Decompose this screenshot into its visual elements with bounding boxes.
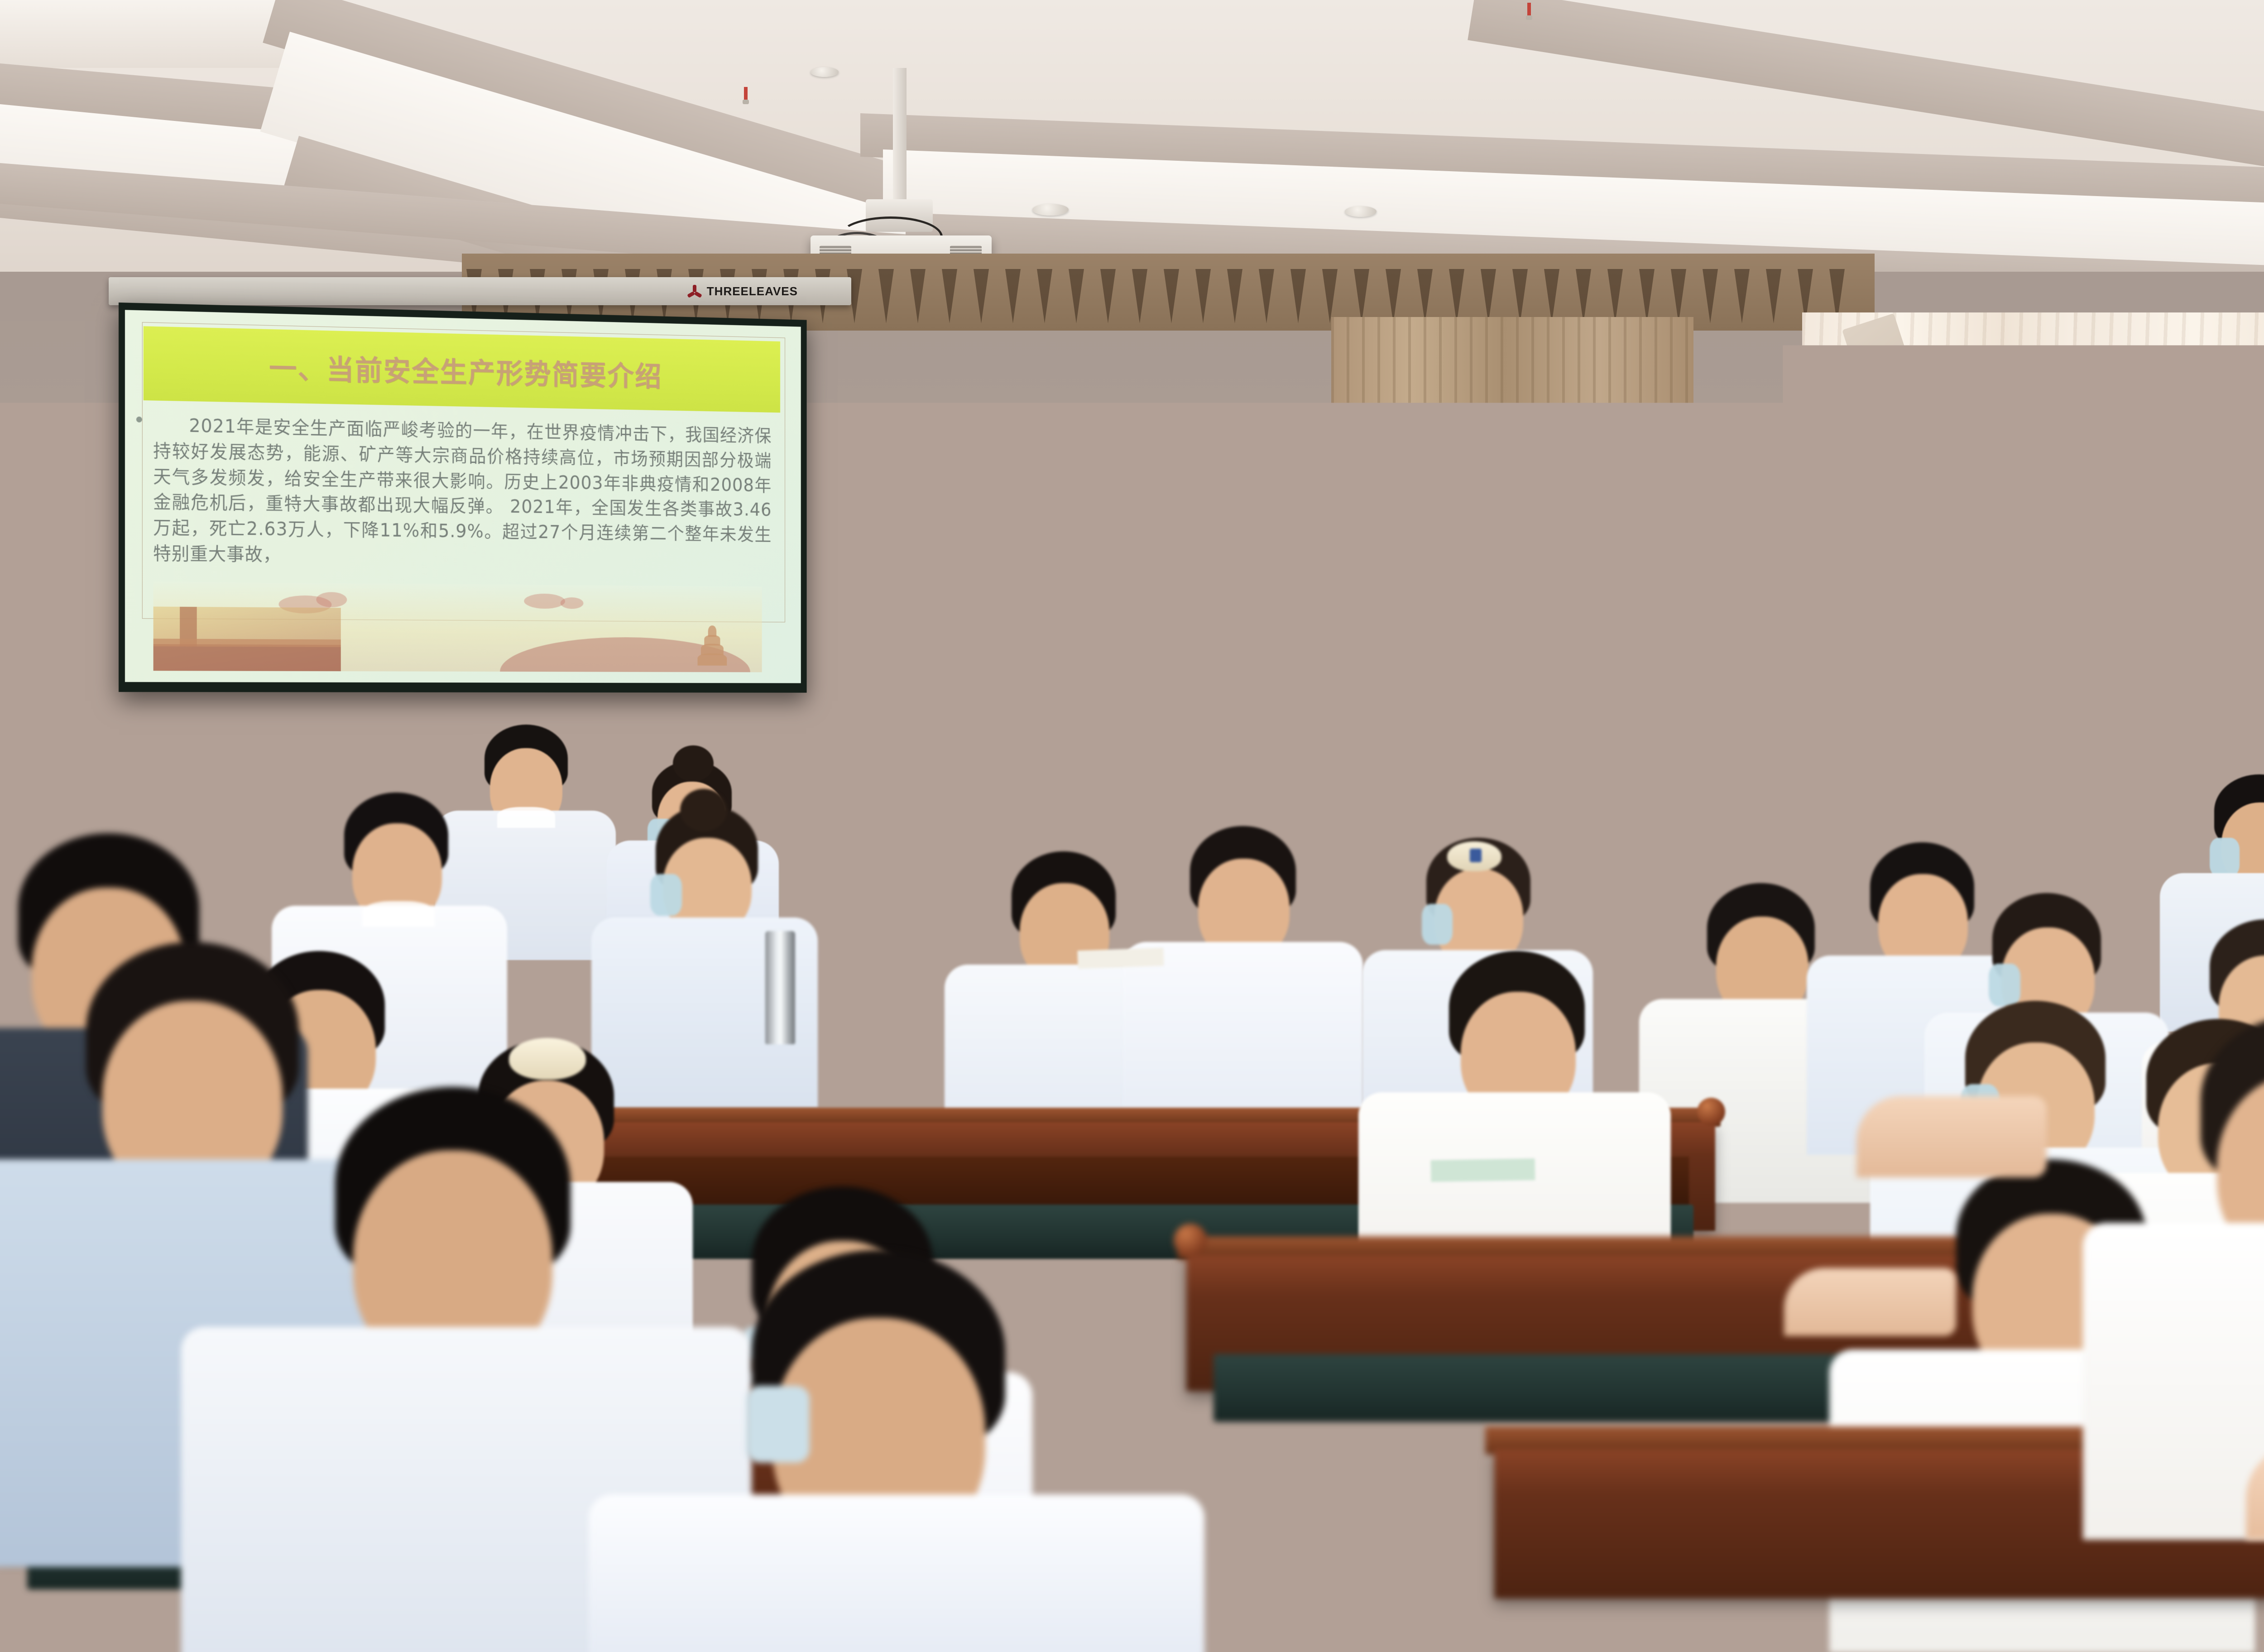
smoke-detector-icon	[1345, 206, 1377, 217]
parrot-logo-icon	[2124, 432, 2158, 486]
power-adapter	[1540, 821, 1616, 831]
name-card-label: 程利全	[1303, 782, 1358, 808]
attendee-arm	[1784, 1268, 1956, 1336]
projection-screen-case: THREELEAVES	[109, 277, 851, 305]
speaker-brand-label: MACAW	[2121, 508, 2162, 518]
projection-screen: 一、当前安全生产形势简要介绍 2021年是安全生产面临严峻考验的一年，在世界疫情…	[119, 303, 807, 693]
fire-sprinkler-icon	[1526, 3, 1532, 24]
smoke-detector-icon	[1032, 204, 1069, 216]
microphone-head-icon	[1005, 706, 1016, 715]
fire-sprinkler-icon	[743, 87, 749, 108]
pa-speaker: MACAW	[2085, 390, 2198, 550]
ac-display: 5	[2218, 634, 2257, 649]
attendee-arm	[1856, 1096, 2047, 1177]
slide-title-band: 一、当前安全生产形势简要介绍	[143, 326, 780, 413]
ac-display-value: 5	[2235, 637, 2240, 647]
smoke-detector-icon	[811, 67, 839, 77]
projector-mount-rod	[893, 68, 907, 208]
slide-title: 一、当前安全生产形势简要介绍	[269, 346, 662, 394]
tiananmen-silhouette	[153, 607, 341, 672]
pagoda-silhouette	[697, 619, 727, 665]
notebook	[1431, 1158, 1535, 1182]
thermos-flask	[765, 931, 795, 1044]
presentation-slide: 一、当前安全生产形势简要介绍 2021年是安全生产面临严峻考验的一年，在世界疫情…	[125, 310, 801, 683]
slide-body-text: 2021年是安全生产面临严峻考验的一年，在世界疫情冲击下，我国经济保持较好发展态…	[153, 413, 772, 572]
thinkpad-dot-icon	[1438, 771, 1442, 775]
hair-bow	[509, 1038, 586, 1080]
eyeglasses-icon	[1361, 688, 1423, 701]
screen-brand-logo: THREELEAVES	[688, 284, 798, 298]
laptop-brand-label: ThinkPad	[1408, 770, 1439, 778]
three-blade-logo-icon	[688, 285, 701, 298]
slide-decorative-banner	[153, 582, 762, 672]
notebook	[1077, 948, 1164, 969]
speaker-stand	[2139, 543, 2149, 933]
meeting-room-photo: THREELEAVES 一、当前安全生产形势简要介绍 2021年是安全生产面临严…	[0, 0, 2264, 1652]
face-mask-icon	[746, 1386, 810, 1463]
name-card: 程利全	[1297, 776, 1364, 813]
microphone-head-icon	[1362, 743, 1372, 752]
ac-louvers	[2211, 534, 2264, 596]
slide-bullet-icon	[136, 417, 142, 423]
screen-brand-label: THREELEAVES	[707, 284, 798, 298]
door-latch-icon[interactable]	[1804, 648, 1820, 660]
red-banner	[1627, 625, 1650, 779]
ac-button-row[interactable]	[2216, 652, 2259, 658]
